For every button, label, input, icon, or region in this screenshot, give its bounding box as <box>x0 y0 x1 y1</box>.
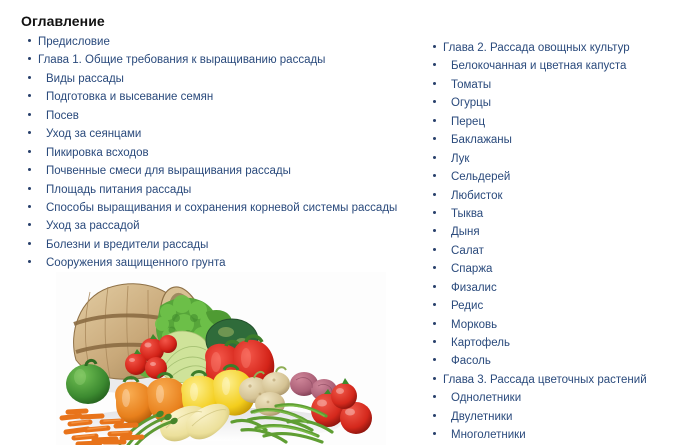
list-item: Глава 2. Рассада овощных культур <box>425 38 695 56</box>
list-item: Белокочанная и цветная капуста <box>425 56 695 74</box>
toc-link-right-1[interactable]: Глава 2. Рассада овощных культур <box>443 39 630 57</box>
list-item: Почвенные смеси для выращивания рассады <box>20 161 420 179</box>
bullet-icon <box>433 266 436 269</box>
toc-link-left-4[interactable]: Подготовка и высевание семян <box>46 88 213 106</box>
toc-link-right-6[interactable]: Баклажаны <box>451 131 512 149</box>
list-item: Физалис <box>425 278 695 296</box>
toc-link-right-12[interactable]: Салат <box>451 242 484 260</box>
toc-link-right-22[interactable]: Многолетники <box>451 426 526 444</box>
bullet-icon <box>433 322 436 325</box>
bullet-icon <box>28 113 31 116</box>
list-item: Баклажаны <box>425 130 695 148</box>
list-item: Морковь <box>425 315 695 333</box>
toc-link-left-9[interactable]: Площадь питания рассады <box>46 181 191 199</box>
bullet-icon <box>28 150 31 153</box>
list-item: Способы выращивания и сохранения корнево… <box>20 198 420 216</box>
toc-right-column: Глава 2. Рассада овощных культурБелокоча… <box>425 38 695 444</box>
toc-link-right-15[interactable]: Редис <box>451 297 483 315</box>
list-item: Многолетники <box>425 425 695 443</box>
list-item: Посев <box>20 106 420 124</box>
page-title: Оглавление <box>21 13 105 29</box>
list-item: Однолетники <box>425 388 695 406</box>
bullet-icon <box>28 168 31 171</box>
bullet-icon <box>433 82 436 85</box>
bullet-icon <box>28 131 31 134</box>
list-item: Перец <box>425 112 695 130</box>
list-item: Предисловие <box>20 32 420 50</box>
bullet-icon <box>433 377 436 380</box>
bullet-icon <box>433 211 436 214</box>
list-item: Площадь питания рассады <box>20 180 420 198</box>
toc-link-right-11[interactable]: Дыня <box>451 223 480 241</box>
list-item: Салат <box>425 241 695 259</box>
toc-link-right-14[interactable]: Физалис <box>451 279 497 297</box>
list-item: Картофель <box>425 333 695 351</box>
toc-link-right-4[interactable]: Огурцы <box>451 94 491 112</box>
bullet-icon <box>433 100 436 103</box>
list-item: Подготовка и высевание семян <box>20 87 420 105</box>
toc-link-left-11[interactable]: Уход за рассадой <box>46 217 140 235</box>
list-item: Дыня <box>425 222 695 240</box>
bullet-icon <box>28 94 31 97</box>
list-item: Виды рассады <box>20 69 420 87</box>
list-item: Тыква <box>425 204 695 222</box>
bullet-icon <box>433 340 436 343</box>
list-item: Сооружения защищенного грунта <box>20 253 420 271</box>
list-item: Пикировка всходов <box>20 143 420 161</box>
toc-link-left-6[interactable]: Уход за сеянцами <box>46 125 141 143</box>
list-item: Двулетники <box>425 407 695 425</box>
toc-link-right-20[interactable]: Однолетники <box>451 389 521 407</box>
toc-link-right-10[interactable]: Тыква <box>451 205 483 223</box>
list-item: Спаржа <box>425 259 695 277</box>
bullet-icon <box>433 285 436 288</box>
bullet-icon <box>433 193 436 196</box>
bullet-icon <box>433 395 436 398</box>
list-item: Глава 1. Общие требования к выращиванию … <box>20 50 420 68</box>
list-item: Глава 3. Рассада цветочных растений <box>425 370 695 388</box>
list-item: Сельдерей <box>425 167 695 185</box>
toc-link-right-13[interactable]: Спаржа <box>451 260 492 278</box>
toc-link-right-21[interactable]: Двулетники <box>451 408 512 426</box>
bullet-icon <box>28 223 31 226</box>
bullet-icon <box>28 260 31 263</box>
toc-link-right-8[interactable]: Сельдерей <box>451 168 510 186</box>
toc-link-left-1[interactable]: Предисловие <box>38 33 110 51</box>
bullet-icon <box>28 39 31 42</box>
toc-link-right-17[interactable]: Картофель <box>451 334 510 352</box>
bullet-icon <box>433 358 436 361</box>
bullet-icon <box>433 156 436 159</box>
toc-link-right-2[interactable]: Белокочанная и цветная капуста <box>451 57 626 75</box>
vegetables-basket-photo <box>56 272 386 445</box>
bullet-icon <box>433 174 436 177</box>
toc-link-left-8[interactable]: Почвенные смеси для выращивания рассады <box>46 162 291 180</box>
bullet-icon <box>433 137 436 140</box>
bullet-icon <box>433 63 436 66</box>
toc-link-left-7[interactable]: Пикировка всходов <box>46 144 149 162</box>
list-item: Томаты <box>425 75 695 93</box>
list-item: Лук <box>425 149 695 167</box>
toc-link-right-16[interactable]: Морковь <box>451 316 497 334</box>
bullet-icon <box>433 303 436 306</box>
toc-link-right-19[interactable]: Глава 3. Рассада цветочных растений <box>443 371 647 389</box>
toc-link-left-3[interactable]: Виды рассады <box>46 70 124 88</box>
toc-left-column: ПредисловиеГлава 1. Общие требования к в… <box>20 32 420 272</box>
toc-link-right-3[interactable]: Томаты <box>451 76 491 94</box>
toc-link-right-7[interactable]: Лук <box>451 150 469 168</box>
toc-link-left-5[interactable]: Посев <box>46 107 79 125</box>
toc-link-right-9[interactable]: Любисток <box>451 187 503 205</box>
list-item: Уход за сеянцами <box>20 124 420 142</box>
toc-link-right-5[interactable]: Перец <box>451 113 485 131</box>
bullet-icon <box>28 242 31 245</box>
toc-link-left-12[interactable]: Болезни и вредители рассады <box>46 236 208 254</box>
toc-link-left-13[interactable]: Сооружения защищенного грунта <box>46 254 226 272</box>
bullet-icon <box>433 45 436 48</box>
bullet-icon <box>433 248 436 251</box>
bullet-icon <box>28 205 31 208</box>
bullet-icon <box>433 119 436 122</box>
bullet-icon <box>433 414 436 417</box>
list-item: Любисток <box>425 186 695 204</box>
bullet-icon <box>433 432 436 435</box>
list-item: Болезни и вредители рассады <box>20 235 420 253</box>
list-item: Огурцы <box>425 93 695 111</box>
list-item: Фасоль <box>425 351 695 369</box>
toc-link-left-2[interactable]: Глава 1. Общие требования к выращиванию … <box>38 51 325 69</box>
bullet-icon <box>433 229 436 232</box>
toc-link-right-18[interactable]: Фасоль <box>451 352 491 370</box>
toc-link-left-10[interactable]: Способы выращивания и сохранения корнево… <box>46 199 397 217</box>
bullet-icon <box>28 76 31 79</box>
list-item: Уход за рассадой <box>20 216 420 234</box>
bullet-icon <box>28 187 31 190</box>
list-item: Редис <box>425 296 695 314</box>
bullet-icon <box>28 57 31 60</box>
